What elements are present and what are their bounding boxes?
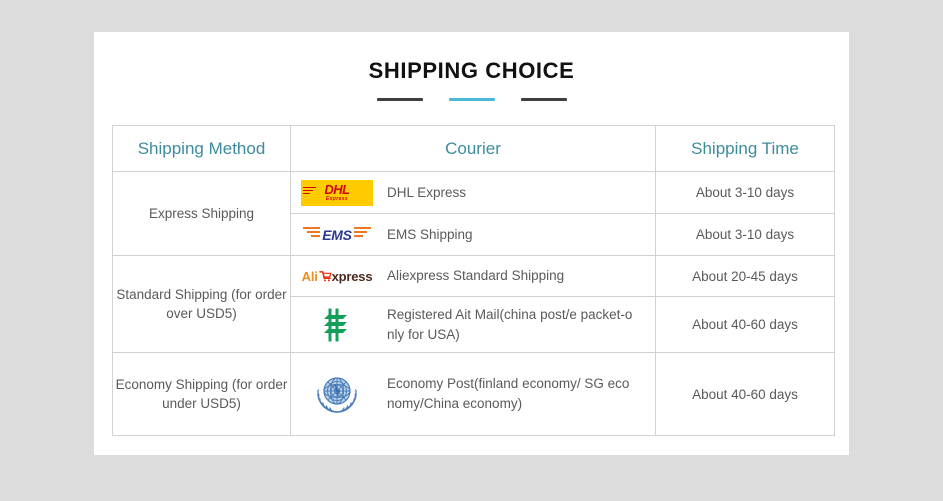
cell-courier: Ali xpress bbox=[291, 256, 656, 297]
cell-shipping-time: About 20-45 days bbox=[656, 256, 835, 297]
cell-shipping-time: About 40-60 days bbox=[656, 297, 835, 353]
table-row: Standard Shipping (for order over USD5) … bbox=[113, 256, 835, 297]
courier-name: DHL Express bbox=[383, 183, 466, 203]
cell-shipping-time: About 40-60 days bbox=[656, 353, 835, 436]
dhl-logo-subtext: Express bbox=[326, 196, 348, 202]
divider-dash-right bbox=[521, 98, 567, 101]
shipping-options-table: Shipping Method Courier Shipping Time Ex… bbox=[112, 125, 835, 436]
cell-courier: Registered Ait Mail(china post/e packet-… bbox=[291, 297, 656, 353]
column-header-shipping-method: Shipping Method bbox=[113, 126, 291, 172]
divider-dash-left bbox=[377, 98, 423, 101]
aliexpress-logo-text-ali: Ali bbox=[302, 269, 318, 284]
china-post-logo bbox=[291, 306, 383, 344]
table-row: Express Shipping DHL Express DHL Express bbox=[113, 172, 835, 214]
page-background: SHIPPING CHOICE Shipping Method Courier … bbox=[0, 0, 943, 501]
ems-logo: EMS bbox=[291, 223, 383, 247]
page-title: SHIPPING CHOICE bbox=[94, 32, 849, 84]
cell-shipping-method: Economy Shipping (for order under USD5) bbox=[113, 353, 291, 436]
cell-courier: EMS EMS Shipping bbox=[291, 214, 656, 256]
united-nations-logo bbox=[291, 372, 383, 416]
table-header-row: Shipping Method Courier Shipping Time bbox=[113, 126, 835, 172]
cell-shipping-time: About 3-10 days bbox=[656, 172, 835, 214]
ems-logo-text: EMS bbox=[322, 227, 351, 243]
cell-shipping-method: Express Shipping bbox=[113, 172, 291, 256]
courier-name: Aliexpress Standard Shipping bbox=[383, 266, 564, 286]
shopping-cart-icon bbox=[319, 270, 332, 282]
divider-dash-accent bbox=[449, 98, 495, 101]
courier-name: Registered Ait Mail(china post/e packet-… bbox=[383, 305, 635, 345]
cell-courier: Economy Post(finland economy/ SG economy… bbox=[291, 353, 656, 436]
aliexpress-logo-text-xpress: xpress bbox=[332, 269, 373, 284]
dhl-logo-text: DHL bbox=[324, 183, 349, 196]
table-row: Economy Shipping (for order under USD5) bbox=[113, 353, 835, 436]
column-header-shipping-time: Shipping Time bbox=[656, 126, 835, 172]
courier-name: Economy Post(finland economy/ SG economy… bbox=[383, 374, 635, 414]
shipping-choice-card: SHIPPING CHOICE Shipping Method Courier … bbox=[94, 32, 849, 455]
dhl-logo: DHL Express bbox=[291, 180, 383, 206]
title-divider bbox=[94, 98, 849, 101]
cell-courier: DHL Express DHL Express bbox=[291, 172, 656, 214]
courier-name: EMS Shipping bbox=[383, 225, 473, 245]
aliexpress-logo: Ali xpress bbox=[291, 269, 383, 284]
column-header-courier: Courier bbox=[291, 126, 656, 172]
cell-shipping-time: About 3-10 days bbox=[656, 214, 835, 256]
cell-shipping-method: Standard Shipping (for order over USD5) bbox=[113, 256, 291, 353]
